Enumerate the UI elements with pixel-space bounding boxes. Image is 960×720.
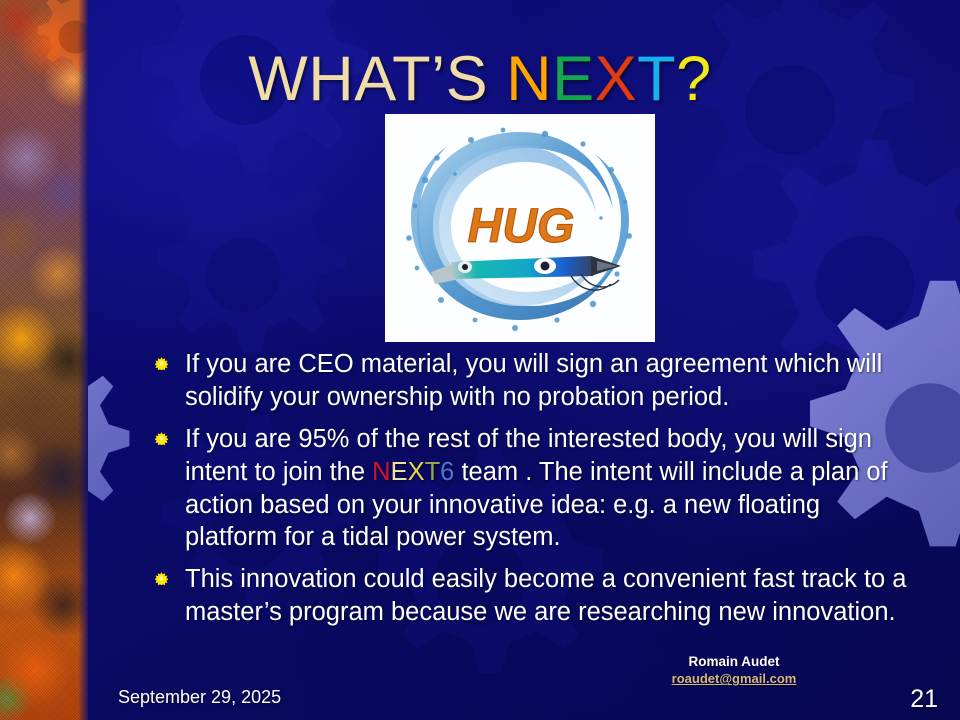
slide-title: WHAT’S NEXT?: [0, 48, 960, 111]
title-segment-3: X: [595, 44, 638, 114]
bullet-1-segment-5: 6: [440, 458, 454, 486]
title-segment-0: WHAT’S: [248, 44, 506, 114]
bullet-1-segment-1: N: [372, 458, 390, 486]
title-segment-4: T: [637, 44, 676, 114]
starburst-bullet-icon: [155, 563, 185, 585]
hug-water-splash-lure-image: HUG: [385, 114, 655, 342]
bullet-list: If you are CEO material, you will sign a…: [155, 348, 915, 638]
list-item: If you are CEO material, you will sign a…: [155, 348, 915, 414]
starburst-bullet-icon: [155, 348, 185, 370]
list-item-text: If you are 95% of the rest of the intere…: [185, 423, 915, 555]
title-segment-5: ?: [676, 44, 712, 114]
list-item: This innovation could easily become a co…: [155, 563, 915, 629]
starburst-bullet-icon: [155, 423, 185, 445]
bullet-2-segment-0: This innovation could easily become a co…: [185, 565, 906, 626]
list-item-text: This innovation could easily become a co…: [185, 563, 915, 629]
list-item: If you are 95% of the rest of the intere…: [155, 423, 915, 555]
title-segment-2: E: [552, 44, 595, 114]
background-gear-icon: [640, 0, 940, 260]
slide-date: September 29, 2025: [118, 687, 281, 708]
bullet-1-segment-2: E: [391, 458, 408, 486]
author-name: Romain Audet: [634, 654, 834, 671]
svg-text:HUG: HUG: [468, 200, 575, 253]
title-segment-1: N: [506, 44, 552, 114]
background-gear-icon: [95, 0, 395, 230]
page-number: 21: [910, 685, 938, 714]
bullet-1-segment-3: X: [408, 458, 425, 486]
bullet-1-segment-4: T: [425, 458, 441, 486]
author-block: Romain Audet roaudet@gmail.com: [634, 654, 834, 688]
slide: WHAT’S NEXT?: [0, 0, 960, 720]
bullet-0-segment-0: If you are CEO material, you will sign a…: [185, 350, 882, 411]
list-item-text: If you are CEO material, you will sign a…: [185, 348, 915, 414]
author-email-link[interactable]: roaudet@gmail.com: [634, 670, 834, 688]
